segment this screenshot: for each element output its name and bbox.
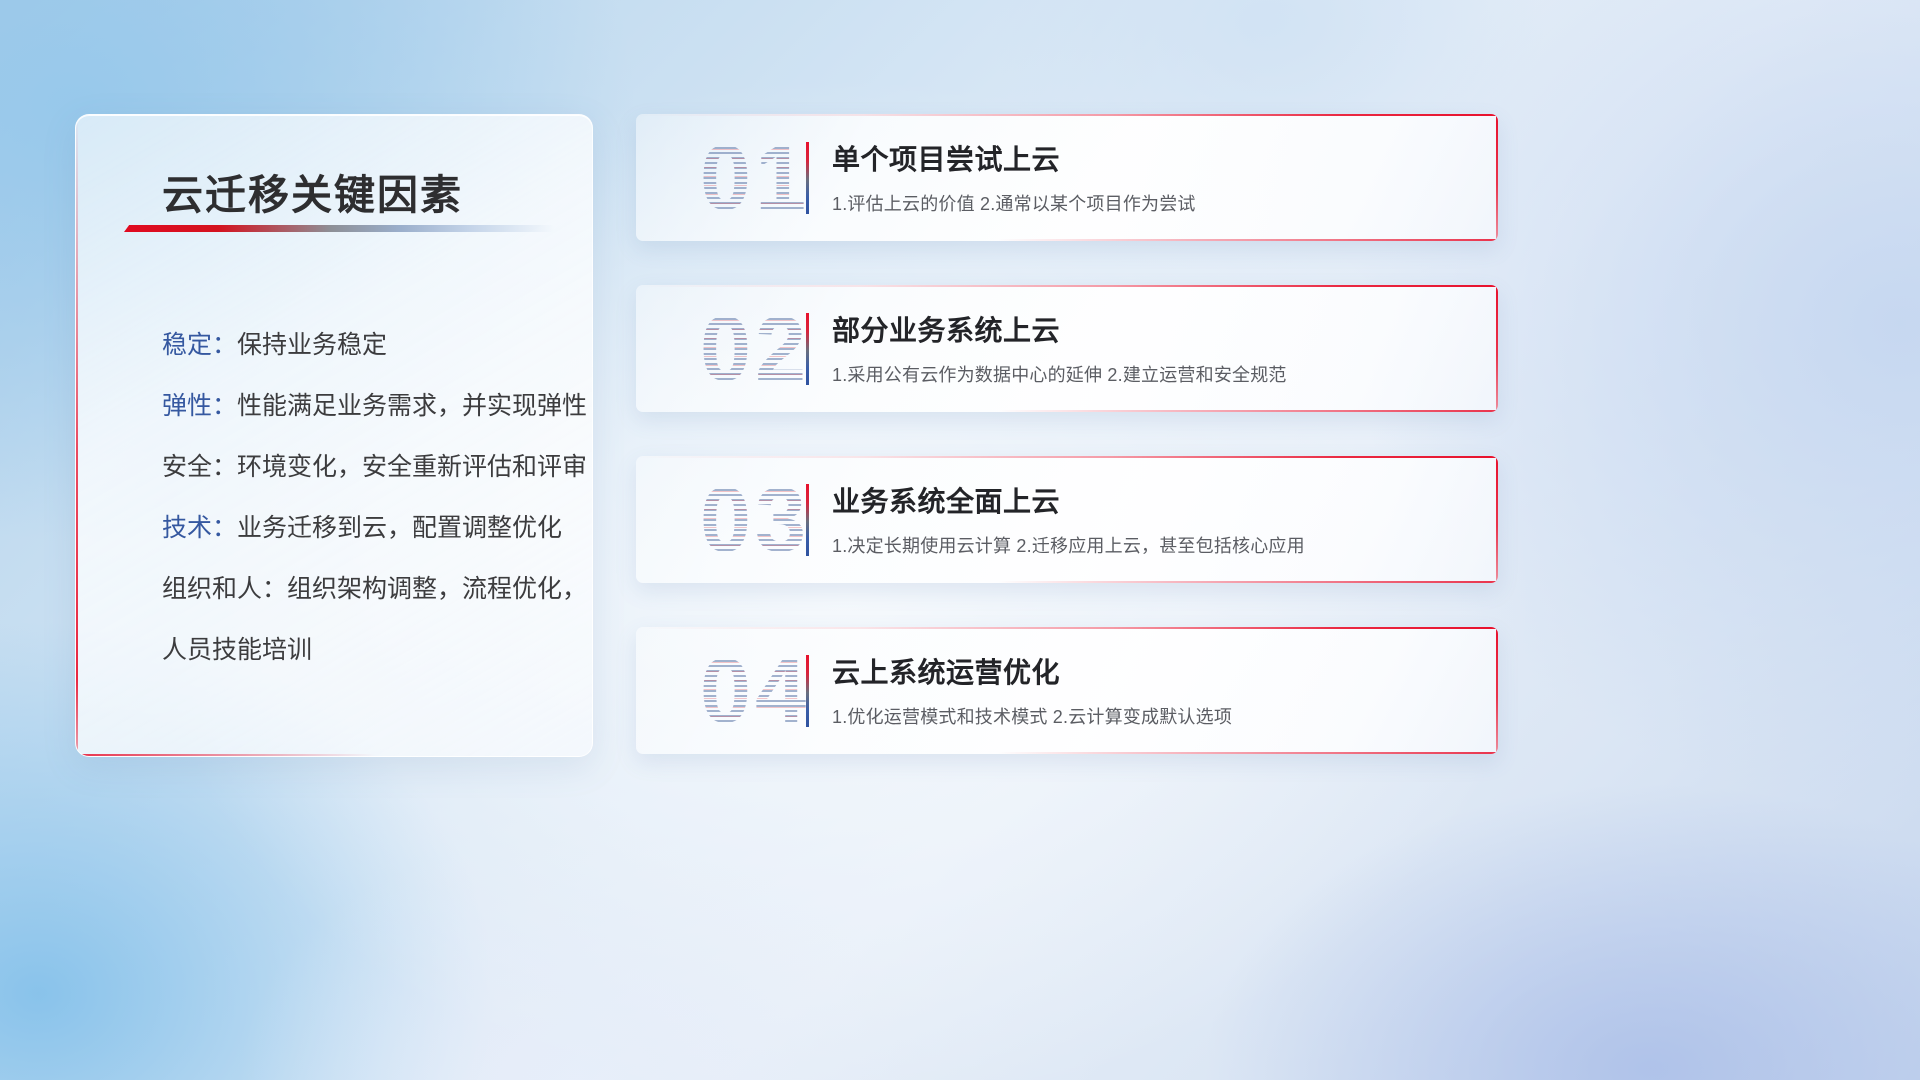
step-card-01[interactable]: 01 01 单个项目尝试上云 1.评估上云的价值 2.通常以某个项目作为尝试 bbox=[636, 114, 1498, 241]
key-factors-panel: 云迁移关键因素 稳定：保持业务稳定 弹性：性能满足业务需求，并实现弹性 安全：环… bbox=[75, 114, 593, 757]
factor-value: 环境变化，安全重新评估和评审 bbox=[237, 453, 587, 481]
card-top-accent bbox=[636, 114, 1498, 116]
card-right-accent bbox=[1496, 285, 1498, 412]
step-title: 单个项目尝试上云 bbox=[832, 138, 1060, 178]
factor-row: 技术：业务迁移到云，配置调整优化 bbox=[162, 498, 566, 559]
card-bottom-accent bbox=[998, 239, 1498, 241]
card-divider-bar bbox=[806, 484, 809, 556]
title-underline-gradient bbox=[124, 225, 554, 232]
factor-label: 技术： bbox=[162, 514, 237, 542]
factor-value: 保持业务稳定 bbox=[237, 331, 387, 359]
factor-row: 组织和人：组织架构调整，流程优化， bbox=[162, 559, 566, 620]
step-description: 1.评估上云的价值 2.通常以某个项目作为尝试 bbox=[832, 190, 1196, 216]
step-number-ghost-tint: 01 bbox=[660, 122, 850, 234]
step-number-ghost-tint: 03 bbox=[660, 464, 850, 576]
card-right-accent bbox=[1496, 456, 1498, 583]
factor-label: 组织和人： bbox=[162, 575, 287, 603]
card-top-accent bbox=[636, 285, 1498, 287]
factor-value: 组织架构调整，流程优化， bbox=[287, 575, 587, 603]
panel-left-accent-bar bbox=[76, 115, 78, 756]
card-divider-bar bbox=[806, 142, 809, 214]
step-title: 云上系统运营优化 bbox=[832, 651, 1060, 691]
factor-row: 弹性：性能满足业务需求，并实现弹性 bbox=[162, 376, 566, 437]
step-title: 业务系统全面上云 bbox=[832, 480, 1060, 520]
step-description: 1.采用公有云作为数据中心的延伸 2.建立运营和安全规范 bbox=[832, 361, 1287, 387]
panel-bottom-accent-bar bbox=[76, 754, 375, 756]
factor-value: 性能满足业务需求，并实现弹性 bbox=[237, 392, 587, 420]
factor-label: 弹性： bbox=[162, 392, 237, 420]
step-card-02[interactable]: 02 02 部分业务系统上云 1.采用公有云作为数据中心的延伸 2.建立运营和安… bbox=[636, 285, 1498, 412]
factor-row: 人员技能培训 bbox=[162, 620, 566, 681]
step-number-ghost-tint: 02 bbox=[660, 293, 850, 405]
step-card-04[interactable]: 04 04 云上系统运营优化 1.优化运营模式和技术模式 2.云计算变成默认选项 bbox=[636, 627, 1498, 754]
step-card-03[interactable]: 03 03 业务系统全面上云 1.决定长期使用云计算 2.迁移应用上云，甚至包括… bbox=[636, 456, 1498, 583]
card-top-accent bbox=[636, 456, 1498, 458]
card-right-accent bbox=[1496, 627, 1498, 754]
step-description: 1.决定长期使用云计算 2.迁移应用上云，甚至包括核心应用 bbox=[832, 532, 1305, 558]
key-factors-list: 稳定：保持业务稳定 弹性：性能满足业务需求，并实现弹性 安全：环境变化，安全重新… bbox=[162, 315, 566, 681]
factor-row: 稳定：保持业务稳定 bbox=[162, 315, 566, 376]
step-title: 部分业务系统上云 bbox=[832, 309, 1060, 349]
card-bottom-accent bbox=[998, 581, 1498, 583]
factor-row: 安全：环境变化，安全重新评估和评审 bbox=[162, 437, 566, 498]
card-right-accent bbox=[1496, 114, 1498, 241]
step-number-ghost-tint: 04 bbox=[660, 635, 850, 747]
card-top-accent bbox=[636, 627, 1498, 629]
card-bottom-accent bbox=[998, 752, 1498, 754]
card-divider-bar bbox=[806, 655, 809, 727]
factor-value: 业务迁移到云，配置调整优化 bbox=[237, 514, 562, 542]
page-title: 云迁移关键因素 bbox=[162, 161, 463, 221]
card-bottom-accent bbox=[998, 410, 1498, 412]
factor-label: 安全： bbox=[162, 453, 237, 481]
card-divider-bar bbox=[806, 313, 809, 385]
factor-label: 稳定： bbox=[162, 331, 237, 359]
step-description: 1.优化运营模式和技术模式 2.云计算变成默认选项 bbox=[832, 703, 1232, 729]
factor-value: 人员技能培训 bbox=[162, 636, 312, 664]
